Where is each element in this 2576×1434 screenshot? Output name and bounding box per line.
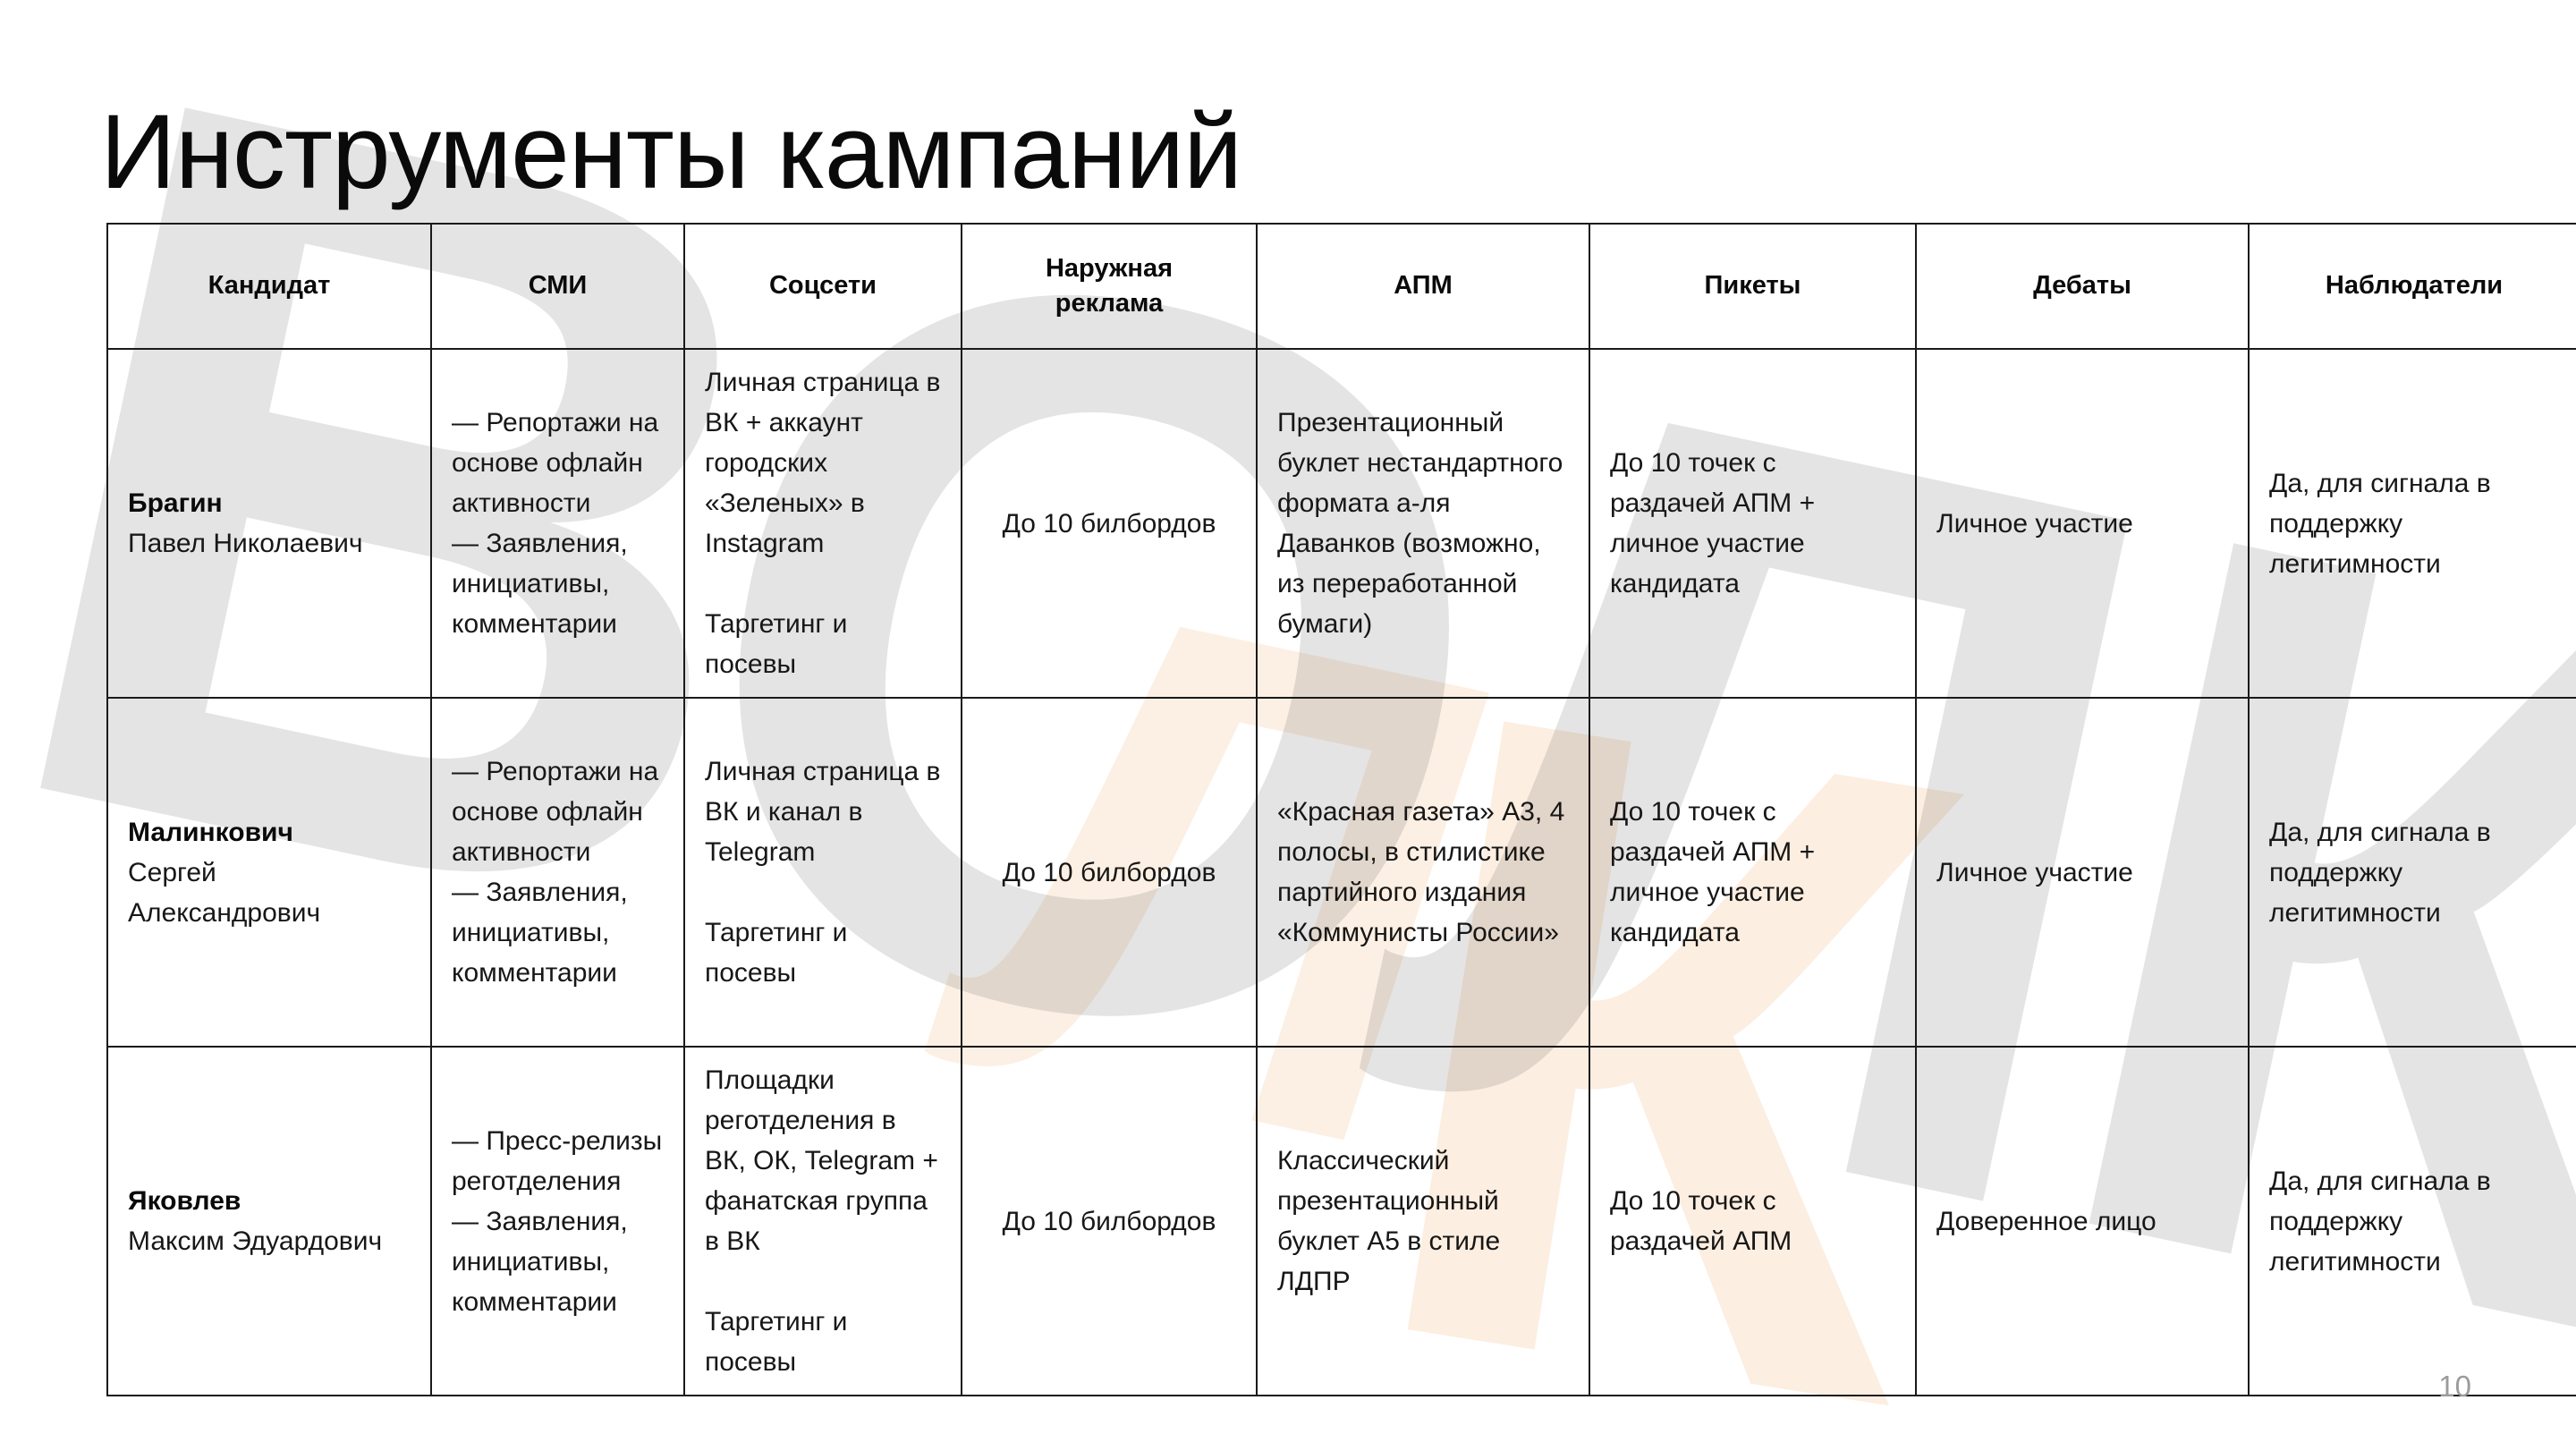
cell-smi: — Репортажи на основе офлайн активности …: [431, 349, 684, 698]
cell-observers: Да, для сигнала в поддержку легитимности: [2249, 349, 2576, 698]
candidate-surname: Брагин: [128, 483, 411, 523]
cell-pickets: До 10 точек с раздачей АПМ + личное учас…: [1589, 349, 1916, 698]
table-row: Яковлев Максим Эдуардович — Пресс-релизы…: [107, 1047, 2576, 1396]
cell-outdoor-ads: До 10 билбордов: [962, 698, 1257, 1047]
column-header-debates: Дебаты: [1916, 224, 2249, 349]
cell-apm: Презентационный буклет нестандартного фо…: [1257, 349, 1589, 698]
candidate-fullname: Сергей Александрович: [128, 853, 411, 933]
table-header-row: Кандидат СМИ Соцсети Наружная реклама АП…: [107, 224, 2576, 349]
table-body: Брагин Павел Николаевич — Репортажи на о…: [107, 349, 2576, 1396]
cell-candidate: Брагин Павел Николаевич: [107, 349, 431, 698]
cell-debates: Личное участие: [1916, 349, 2249, 698]
cell-social: Личная страница в ВК и канал в Telegram …: [684, 698, 962, 1047]
column-header-social: Соцсети: [684, 224, 962, 349]
candidate-surname: Малинкович: [128, 812, 411, 853]
cell-outdoor-ads: До 10 билбордов: [962, 349, 1257, 698]
column-header-apm: АПМ: [1257, 224, 1589, 349]
cell-social: Площадки реготделения в ВК, ОК, Telegram…: [684, 1047, 962, 1396]
cell-pickets: До 10 точек с раздачей АПМ + личное учас…: [1589, 698, 1916, 1047]
cell-social: Личная страница в ВК + аккаунт городских…: [684, 349, 962, 698]
cell-observers: Да, для сигнала в поддержку легитимности: [2249, 1047, 2576, 1396]
candidate-fullname: Максим Эдуардович: [128, 1221, 411, 1261]
cell-smi: — Пресс-релизы реготделения — Заявления,…: [431, 1047, 684, 1396]
candidate-surname: Яковлев: [128, 1181, 411, 1221]
page-number: 10: [2438, 1370, 2471, 1404]
cell-observers: Да, для сигнала в поддержку легитимности: [2249, 698, 2576, 1047]
cell-pickets: До 10 точек с раздачей АПМ: [1589, 1047, 1916, 1396]
campaign-tools-table-wrap: Кандидат СМИ Соцсети Наружная реклама АП…: [106, 223, 2471, 1396]
cell-debates: Доверенное лицо: [1916, 1047, 2249, 1396]
cell-apm: Классический презентационный буклет А5 в…: [1257, 1047, 1589, 1396]
page-title: Инструменты кампаний: [100, 96, 1241, 209]
cell-candidate: Яковлев Максим Эдуардович: [107, 1047, 431, 1396]
column-header-smi: СМИ: [431, 224, 684, 349]
column-header-outdoor-ads: Наружная реклама: [962, 224, 1257, 349]
table-row: Брагин Павел Николаевич — Репортажи на о…: [107, 349, 2576, 698]
cell-apm: «Красная газета» А3, 4 полосы, в стилист…: [1257, 698, 1589, 1047]
slide: ВОЛК Инструменты кампаний Кандидат СМИ С…: [0, 0, 2576, 1434]
cell-debates: Личное участие: [1916, 698, 2249, 1047]
column-header-candidate: Кандидат: [107, 224, 431, 349]
table-row: Малинкович Сергей Александрович — Репорт…: [107, 698, 2576, 1047]
candidate-fullname: Павел Николаевич: [128, 523, 411, 564]
cell-candidate: Малинкович Сергей Александрович: [107, 698, 431, 1047]
campaign-tools-table: Кандидат СМИ Соцсети Наружная реклама АП…: [106, 223, 2576, 1396]
column-header-pickets: Пикеты: [1589, 224, 1916, 349]
cell-outdoor-ads: До 10 билбордов: [962, 1047, 1257, 1396]
column-header-observers: Наблюдатели: [2249, 224, 2576, 349]
table-header: Кандидат СМИ Соцсети Наружная реклама АП…: [107, 224, 2576, 349]
cell-smi: — Репортажи на основе офлайн активности …: [431, 698, 684, 1047]
